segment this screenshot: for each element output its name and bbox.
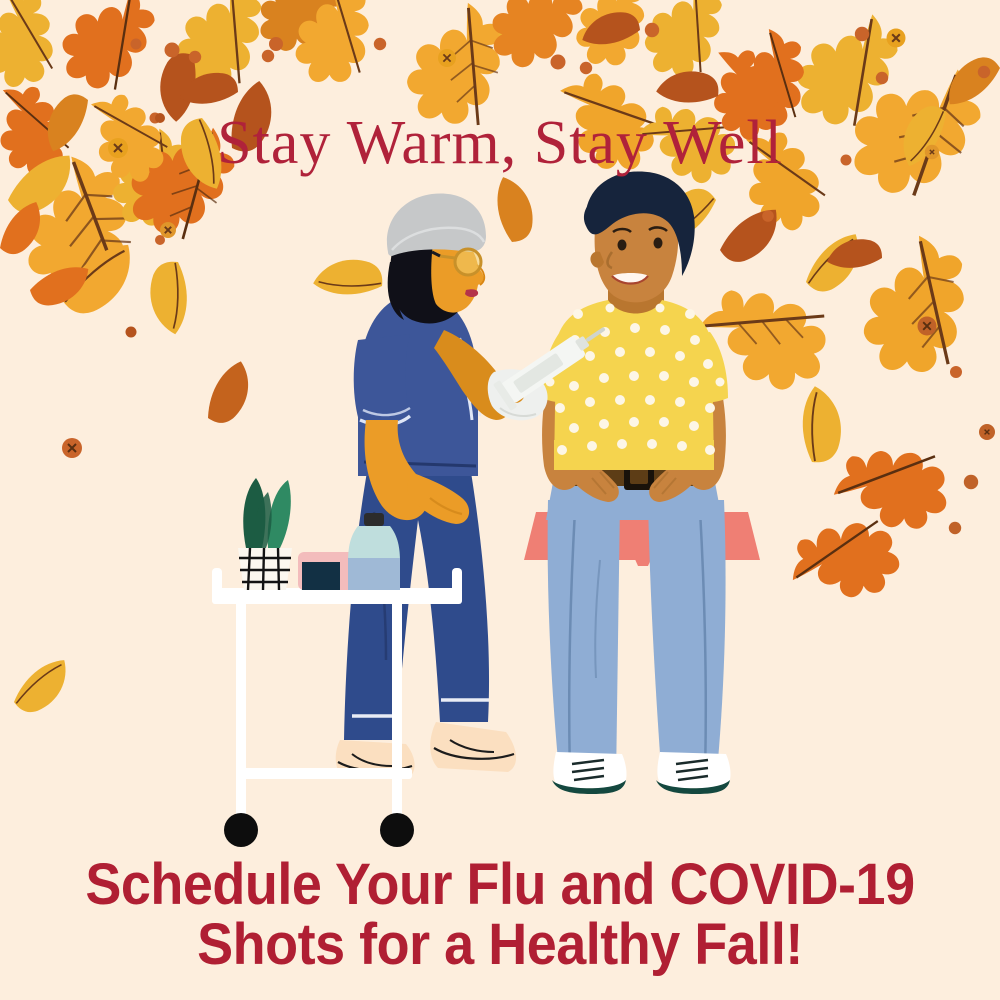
page-title: Stay Warm, Stay Well <box>0 112 1000 174</box>
patient-shoe-left <box>552 752 627 794</box>
cta-line-1: Schedule Your Flu and COVID-19 <box>35 855 965 915</box>
cart-wheel-left <box>224 813 258 847</box>
cart-wheel-right <box>380 813 414 847</box>
patient-shoe-right <box>656 752 731 794</box>
cta-line-2: Shots for a Healthy Fall! <box>35 915 965 975</box>
poster-canvas: Stay Warm, Stay Well Schedule Your Flu a… <box>0 0 1000 1000</box>
call-to-action-text: Schedule Your Flu and COVID-19 Shots for… <box>35 855 965 976</box>
